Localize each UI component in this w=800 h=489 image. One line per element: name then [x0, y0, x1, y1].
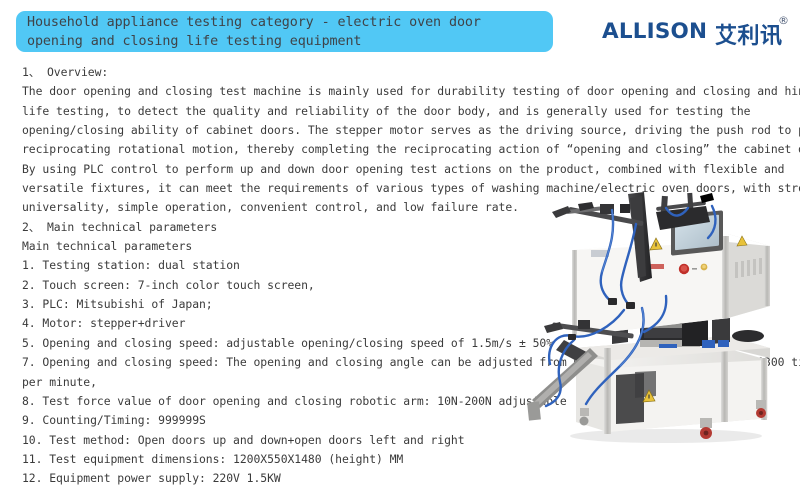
indicator-button[interactable] — [701, 264, 708, 271]
gripper-head — [552, 206, 571, 218]
page-header: Household appliance testing category - e… — [0, 0, 800, 60]
doc-line-21: 11. Test equipment dimensions: 1200X550X… — [22, 450, 782, 469]
company-logo: ALLISON 艾利讯 ® — [602, 16, 787, 50]
doc-line-22: 12. Equipment power supply: 220V 1.5KW — [22, 469, 782, 488]
doc-line-4: opening/closing ability of cabinet doors… — [22, 121, 782, 140]
panel-divider — [692, 268, 697, 270]
doc-line-3: life testing, to detect the quality and … — [22, 102, 782, 121]
logo-chinese-name: 艾利讯 — [715, 18, 783, 50]
emergency-stop-button[interactable] — [679, 264, 689, 274]
ground-shadow — [570, 429, 762, 443]
doc-line-2: The door opening and closing test machin… — [22, 82, 782, 101]
doc-line-1: 1、 Overview: — [22, 63, 782, 82]
title-banner: Household appliance testing category - e… — [16, 11, 553, 52]
page-title-line-1: Household appliance testing category - e… — [27, 14, 553, 33]
doc-line-5: reciprocating rotational motion, thereby… — [22, 140, 782, 159]
machine-photo — [516, 190, 800, 450]
logo-wordmark: ALLISON — [602, 19, 707, 44]
page-title-line-2: opening and closing life testing equipme… — [27, 33, 553, 52]
registered-trademark-icon: ® — [778, 14, 789, 27]
doc-line-6: By using PLC control to perform up and d… — [22, 160, 782, 179]
